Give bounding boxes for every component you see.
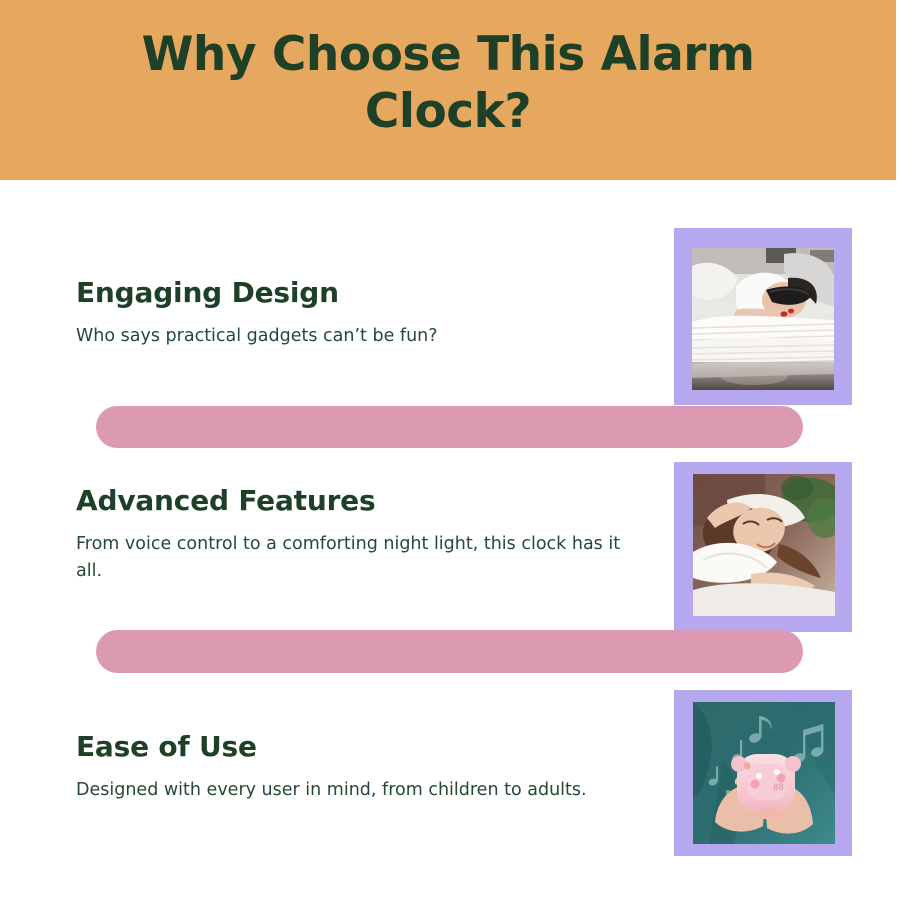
feature-heading: Advanced Features [76, 484, 646, 517]
feature-body: Who says practical gadgets can’t be fun? [76, 323, 646, 350]
feature-body: Designed with every user in mind, from c… [76, 777, 646, 804]
divider-pill [96, 406, 803, 448]
header-band: Why Choose This Alarm Clock? [0, 0, 896, 180]
divider-pill [96, 630, 803, 673]
feature-body: From voice control to a comforting night… [76, 531, 646, 585]
poster-canvas: Why Choose This Alarm Clock? Engaging De… [0, 0, 900, 923]
feature-text-block: Ease of Use Designed with every user in … [76, 730, 646, 804]
photo-illustration [692, 248, 834, 390]
photo-illustration: 88 [693, 702, 835, 844]
photo-illustration [693, 474, 835, 616]
svg-text:88: 88 [773, 783, 784, 793]
photo-frame [674, 228, 852, 405]
photo-frame: 88 [674, 690, 852, 856]
photo-frame [674, 462, 852, 632]
feature-photo-sleeping-on-pillow [693, 474, 835, 616]
page-title: Why Choose This Alarm Clock? [0, 26, 896, 141]
feature-heading: Ease of Use [76, 730, 646, 763]
feature-text-block: Engaging Design Who says practical gadge… [76, 276, 646, 350]
feature-photo-pink-alarm-clock-in-hands: 88 [693, 702, 835, 844]
feature-heading: Engaging Design [76, 276, 646, 309]
feature-photo-sleeping-eye-mask [692, 248, 834, 390]
feature-text-block: Advanced Features From voice control to … [76, 484, 646, 585]
